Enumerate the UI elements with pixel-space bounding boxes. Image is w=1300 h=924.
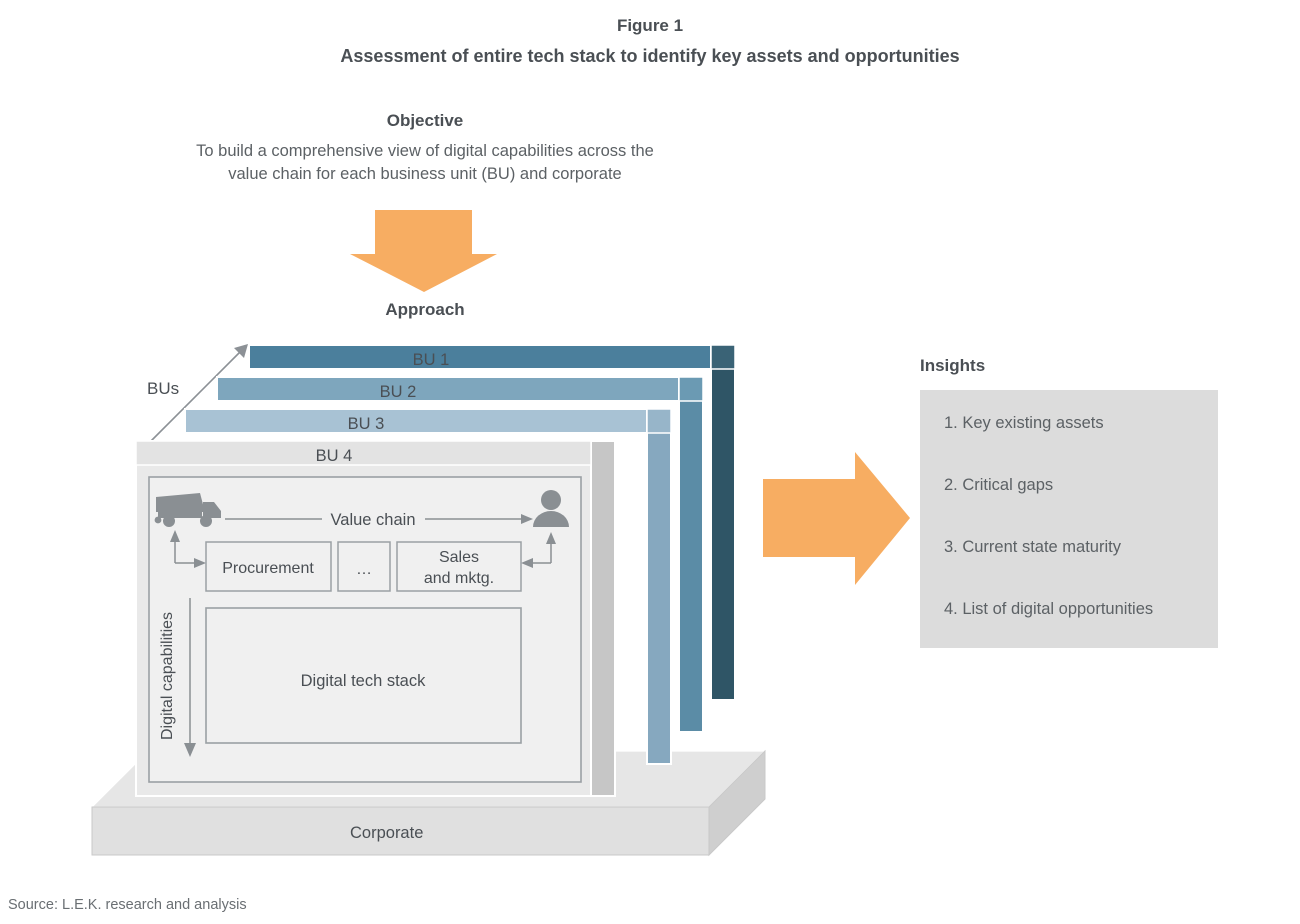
right-arrow-icon [763,452,910,585]
list-item[interactable]: 2. Critical gaps [944,474,1224,536]
bu-layer-1-label: BU 1 [413,351,450,369]
bu-layer-3-label: BU 3 [348,415,385,433]
stage-label-sales-line2: and mktg. [424,570,494,587]
stage-label-sales-line1: Sales [439,549,479,566]
bu-layer-4-label: BU 4 [316,447,353,465]
insights-list: 1. Key existing assets 2. Critical gaps … [944,412,1224,660]
list-item[interactable]: 1. Key existing assets [944,412,1224,474]
bu-layer-2-label: BU 2 [380,383,417,401]
list-item[interactable]: 3. Current state maturity [944,536,1224,598]
insights-heading: Insights [920,356,985,376]
down-arrow-icon [350,210,497,292]
stage-label-ellipsis: … [356,561,372,578]
corporate-label: Corporate [350,824,423,842]
list-item[interactable]: 4. List of digital opportunities [944,598,1224,660]
bus-axis-label: BUs [147,379,179,398]
capabilities-axis-label: Digital capabilities [159,612,176,740]
source-note: Source: L.E.K. research and analysis [8,897,247,913]
value-chain-label: Value chain [330,511,415,529]
digital-tech-stack-label: Digital tech stack [301,672,426,690]
stage-label-procurement: Procurement [222,560,314,577]
